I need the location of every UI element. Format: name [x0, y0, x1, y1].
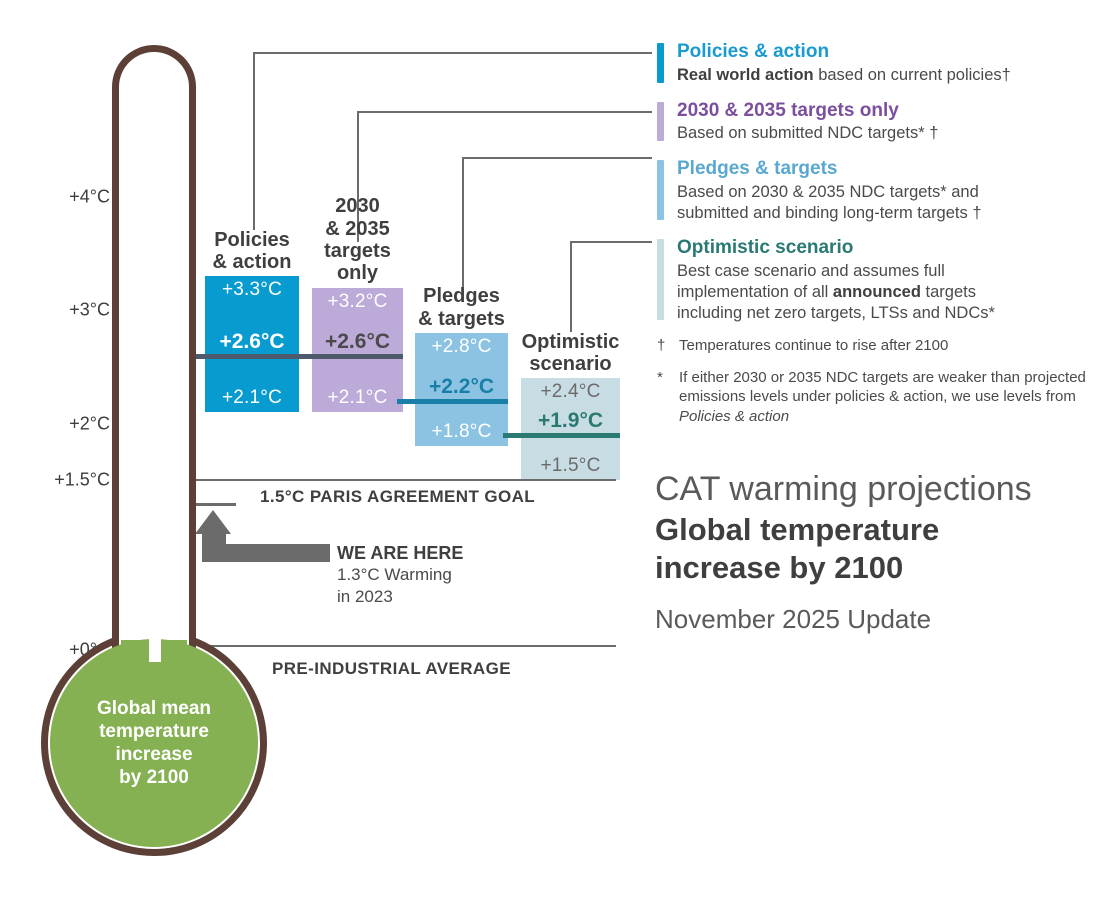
thermometer: +4°C+3°C+2°C+1.5°C+0°C Global mean tempe… — [28, 40, 278, 870]
scale-tick — [123, 390, 145, 394]
mercury-column — [149, 503, 161, 662]
best-estimate-line-targets-only — [294, 354, 403, 359]
legend-heading-optimistic-scenario: Optimistic scenario — [677, 236, 1087, 260]
title-block: CAT warming projections Global temperatu… — [655, 470, 1095, 636]
arrow-stem-horizontal — [202, 544, 330, 562]
axis-label-1.5C: +1.5°C — [54, 470, 110, 491]
legend-description-pledges-targets: Based on 2030 & 2035 NDC targets* andsub… — [677, 182, 1087, 224]
page-title-sub: Global temperature increase by 2100 — [655, 511, 1095, 587]
scale-tick — [123, 503, 145, 507]
legend: Policies & actionReal world action based… — [657, 40, 1087, 336]
page-title-update: November 2025 Update — [655, 604, 1095, 635]
scale-tick — [123, 605, 145, 609]
footnote-2: *If either 2030 or 2035 NDC targets are … — [657, 368, 1087, 426]
connector-vertical-optimistic-scenario — [570, 241, 572, 332]
scale-tick — [123, 492, 145, 496]
axis-label-2C: +2°C — [69, 413, 110, 434]
pre-industrial-line — [196, 645, 616, 647]
scenario-best-estimate-policies-action: +2.6°C — [205, 330, 299, 354]
scale-tick — [123, 220, 145, 224]
legend-description-optimistic-scenario: Best case scenario and assumes fullimple… — [677, 261, 1087, 323]
scenario-high-optimistic-scenario: +2.4°C — [521, 381, 620, 403]
scale-tick — [123, 480, 157, 484]
scale-tick — [123, 152, 145, 156]
footnote-text-2: If either 2030 or 2035 NDC targets are w… — [679, 369, 1086, 424]
scenario-pledges-targets[interactable]: Pledges & targets+2.8°C+1.8°C+2.2°C — [415, 333, 508, 446]
scenario-title-pledges-targets: Pledges & targets — [401, 285, 522, 333]
connector-vertical-pledges-targets — [462, 157, 464, 287]
axis-label-3C: +3°C — [69, 300, 110, 321]
legend-heading-targets-only: 2030 & 2035 targets only — [677, 99, 1087, 123]
scenario-low-targets-only: +2.1°C — [312, 387, 403, 409]
scenario-policies-action[interactable]: Policies & action+3.3°C+2.1°C+2.6°C — [205, 276, 299, 412]
scale-tick — [123, 571, 145, 575]
legend-color-swatch-pledges-targets — [657, 160, 664, 220]
scenario-low-optimistic-scenario: +1.5°C — [521, 455, 620, 477]
scale-tick — [123, 401, 145, 405]
best-estimate-line-pledges-targets — [397, 399, 508, 404]
scale-tick — [123, 163, 145, 167]
temperature-axis: +4°C+3°C+2°C+1.5°C+0°C — [18, 40, 110, 720]
scale-tick — [123, 435, 145, 439]
scale-tick — [123, 141, 157, 145]
scale-tick — [123, 288, 145, 292]
scale-tick — [123, 548, 145, 552]
scale-tick — [123, 616, 145, 620]
infographic-canvas: +4°C+3°C+2°C+1.5°C+0°C Global mean tempe… — [0, 0, 1110, 908]
scenario-low-policies-action: +2.1°C — [205, 387, 299, 409]
scale-tick — [123, 469, 145, 473]
scale-tick — [123, 322, 145, 326]
scenario-title-targets-only: 2030 & 2035 targets only — [298, 195, 417, 288]
legend-item-optimistic-scenario[interactable]: Optimistic scenarioBest case scenario an… — [657, 236, 1087, 323]
we-are-here-subtitle: 1.3°C Warming in 2023 — [337, 564, 452, 608]
scenario-high-pledges-targets: +2.8°C — [415, 336, 508, 358]
scale-tick — [123, 209, 145, 213]
scale-tick — [123, 129, 145, 133]
scale-tick — [123, 378, 145, 382]
scale-tick — [123, 344, 145, 348]
legend-item-policies-action[interactable]: Policies & actionReal world action based… — [657, 40, 1087, 86]
legend-item-pledges-targets[interactable]: Pledges & targetsBased on 2030 & 2035 ND… — [657, 157, 1087, 223]
footnote-marker-2: * — [657, 368, 663, 387]
scenario-targets-only[interactable]: 2030 & 2035 targets only+3.2°C+2.1°C+2.6… — [312, 288, 403, 413]
scale-tick — [123, 356, 145, 360]
connector-vertical-policies-action — [253, 52, 255, 230]
current-warming-dash — [196, 503, 236, 506]
scenario-low-pledges-targets: +1.8°C — [415, 421, 508, 443]
paris-goal-line — [196, 479, 616, 481]
scale-tick — [123, 333, 145, 337]
scenario-best-estimate-targets-only: +2.6°C — [312, 330, 403, 354]
axis-label-4C: +4°C — [69, 187, 110, 208]
paris-goal-label: 1.5°C PARIS AGREEMENT GOAL — [260, 487, 535, 507]
scale-tick — [123, 458, 145, 462]
scale-tick — [123, 525, 145, 529]
legend-color-swatch-policies-action — [657, 43, 664, 83]
legend-item-targets-only[interactable]: 2030 & 2035 targets onlyBased on submitt… — [657, 99, 1087, 145]
scale-tick — [123, 582, 145, 586]
scale-tick — [123, 197, 157, 201]
scale-tick — [123, 367, 157, 371]
scale-tick — [123, 186, 145, 190]
scenario-best-estimate-optimistic-scenario: +1.9°C — [521, 409, 620, 433]
pre-industrial-label: PRE-INDUSTRIAL AVERAGE — [272, 659, 511, 679]
scale-tick — [123, 265, 145, 269]
scale-tick — [123, 299, 145, 303]
we-are-here-title: WE ARE HERE — [337, 543, 463, 564]
scenario-title-policies-action: Policies & action — [191, 229, 313, 277]
scale-tick — [123, 559, 145, 563]
arrow-head-icon — [195, 510, 231, 534]
scenario-best-estimate-pledges-targets: +2.2°C — [415, 375, 508, 399]
scenario-title-optimistic-scenario: Optimistic scenario — [507, 331, 634, 379]
footnote-marker-1: † — [657, 336, 665, 355]
page-title-main: CAT warming projections — [655, 470, 1095, 509]
legend-description-targets-only: Based on submitted NDC targets* † — [677, 123, 1087, 144]
footnote-text-1: Temperatures continue to rise after 2100 — [679, 337, 948, 354]
connector-horizontal-policies-action — [253, 52, 652, 54]
scenario-optimistic-scenario[interactable]: Optimistic scenario+2.4°C+1.5°C+1.9°C — [521, 378, 620, 480]
scale-tick — [123, 446, 145, 450]
connector-horizontal-targets-only — [357, 111, 652, 113]
footnote-1: †Temperatures continue to rise after 210… — [657, 336, 1087, 355]
footnotes: †Temperatures continue to rise after 210… — [657, 336, 1087, 439]
legend-color-swatch-optimistic-scenario — [657, 239, 664, 320]
scenario-high-policies-action: +3.3°C — [205, 279, 299, 301]
scale-tick — [123, 231, 145, 235]
scale-tick — [123, 276, 145, 280]
connector-horizontal-optimistic-scenario — [570, 241, 652, 243]
scale-tick — [123, 514, 145, 518]
legend-description-policies-action: Real world action based on current polic… — [677, 65, 1087, 86]
scale-tick — [123, 310, 157, 314]
bulb-label: Global mean temperature increase by 2100 — [97, 697, 211, 790]
scale-tick — [123, 424, 157, 428]
best-estimate-line-optimistic-scenario — [503, 433, 620, 438]
scale-tick — [123, 242, 145, 246]
scenario-high-targets-only: +3.2°C — [312, 291, 403, 313]
scale-tick — [123, 412, 145, 416]
connector-horizontal-pledges-targets — [462, 157, 652, 159]
legend-heading-pledges-targets: Pledges & targets — [677, 157, 1087, 181]
scale-tick — [123, 254, 157, 258]
scale-tick — [123, 175, 145, 179]
legend-heading-policies-action: Policies & action — [677, 40, 1087, 64]
legend-color-swatch-targets-only — [657, 102, 664, 142]
